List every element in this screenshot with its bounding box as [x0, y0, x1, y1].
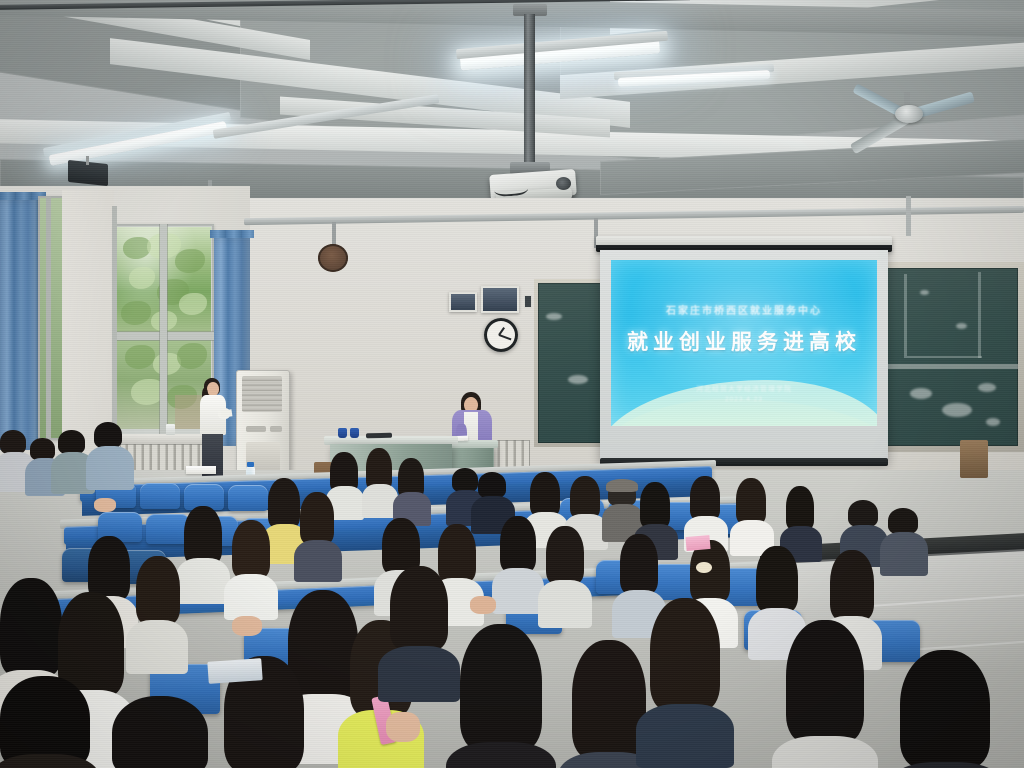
- projector-mount-pole: [524, 14, 535, 166]
- desk-remote[interactable]: [366, 433, 392, 438]
- projector-lens: [556, 177, 571, 190]
- pink-paper: [685, 535, 710, 551]
- desk-cup: [338, 428, 347, 438]
- wall-clock: [484, 318, 518, 352]
- slide-title: 就业创业服务进高校: [611, 326, 877, 356]
- window-far-left: [38, 196, 64, 440]
- blackboard-right: [886, 268, 1018, 446]
- presentation-slide: 石家庄市桥西区就业服务中心 就业创业服务进高校 河北经贸大学经济管理学院 202…: [611, 260, 877, 426]
- classroom-scene-photo: 石家庄市桥西区就业服务中心 就业创业服务进高校 河北经贸大学经济管理学院 202…: [0, 0, 1024, 768]
- wall-pier-left: [62, 190, 114, 458]
- blackboard-left: [538, 283, 602, 443]
- lecture-seat[interactable]: [140, 483, 180, 509]
- wall-control-panel-left[interactable]: [449, 292, 477, 312]
- wall-display-panel[interactable]: [481, 286, 519, 313]
- clock-minute-hand: [499, 334, 512, 340]
- window-mullion-vertical: [160, 224, 167, 436]
- audience-cap: [606, 479, 638, 492]
- slide-date: 2023.4.23: [611, 396, 877, 403]
- ac-control-panel[interactable]: [246, 426, 266, 432]
- lecture-seat[interactable]: [228, 485, 268, 511]
- blackboard-divider: [886, 364, 1018, 369]
- speaker-bracket: [86, 156, 89, 165]
- audience-hand: [386, 712, 420, 742]
- hair-scrunchie: [696, 562, 712, 573]
- window-pipe-left: [46, 196, 51, 446]
- wall-conduit-vertical: [906, 196, 911, 236]
- floor-air-conditioner[interactable]: [236, 370, 290, 482]
- wall-exhaust-fan: [318, 244, 348, 272]
- ac-indicator: [270, 426, 282, 432]
- ac-vent-grille: [242, 376, 282, 412]
- window-sill-cup: [166, 424, 175, 435]
- audience-hand: [94, 498, 116, 512]
- desk-cup: [350, 428, 359, 438]
- ceiling-fan-right-hub: [895, 105, 923, 123]
- projection-screen: 石家庄市桥西区就业服务中心 就业创业服务进高校 河北经贸大学经济管理学院 202…: [600, 250, 888, 463]
- curtain-far-left[interactable]: [0, 196, 42, 450]
- curtain-rail-main: [210, 230, 254, 238]
- slide-institution: 河北经贸大学经济管理学院: [611, 384, 877, 394]
- slide-organization: 石家庄市桥西区就业服务中心: [611, 302, 877, 317]
- audience-hand: [470, 596, 496, 614]
- assistant-head: [207, 382, 219, 396]
- bench-notebook: [186, 466, 216, 474]
- notebook-on-desk: [207, 658, 262, 684]
- audience-hand: [232, 616, 262, 636]
- window-pipe-mid: [112, 206, 117, 442]
- wooden-chair-right[interactable]: [960, 440, 988, 478]
- wall-switch[interactable]: [524, 295, 532, 308]
